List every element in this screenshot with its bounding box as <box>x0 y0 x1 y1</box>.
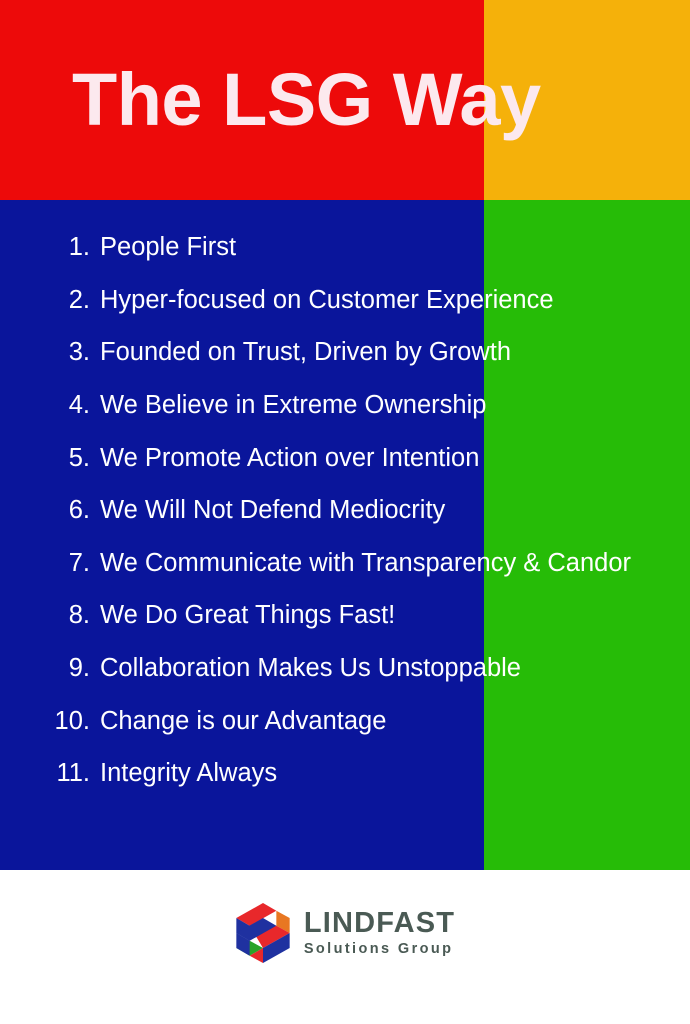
list-item-label: We Promote Action over Intention <box>100 442 503 475</box>
quadrant-top-right <box>484 0 690 200</box>
poster-canvas: The LSG Way 1. People First 2. Hyper-foc… <box>0 0 690 1024</box>
list-item-number: 8. <box>0 599 100 632</box>
lindfast-hexagon-logo-icon <box>235 903 291 963</box>
list-item-number: 7. <box>0 547 100 580</box>
list-item-number: 4. <box>0 389 100 422</box>
list-item: 4. We Believe in Extreme Ownership <box>0 389 690 422</box>
list-item: 8. We Do Great Things Fast! <box>0 599 690 632</box>
company-logo: LINDFAST Solutions Group <box>235 903 455 963</box>
list-item-number: 9. <box>0 652 100 685</box>
list-item-number: 10. <box>0 705 100 738</box>
list-item-number: 5. <box>0 442 100 475</box>
list-item-number: 1. <box>0 231 100 264</box>
list-item-label: Hyper-focused on Customer Experience <box>100 284 578 317</box>
list-item: 5. We Promote Action over Intention <box>0 442 690 475</box>
list-item-label: We Will Not Defend Mediocrity <box>100 494 469 527</box>
quadrant-top-left <box>0 0 484 200</box>
list-item: 7. We Communicate with Transparency & Ca… <box>0 547 690 580</box>
list-item-number: 3. <box>0 336 100 369</box>
list-item: 9. Collaboration Makes Us Unstoppable <box>0 652 690 685</box>
list-item-number: 11. <box>0 757 100 790</box>
logo-wordmark: LINDFAST Solutions Group <box>304 909 455 957</box>
list-item-label: We Believe in Extreme Ownership <box>100 389 510 422</box>
list-item-label: We Do Great Things Fast! <box>100 599 419 632</box>
company-name: LINDFAST <box>304 909 455 938</box>
list-item: 2. Hyper-focused on Customer Experience <box>0 284 690 317</box>
list-item-label: Integrity Always <box>100 757 301 790</box>
list-item-label: Founded on Trust, Driven by Growth <box>100 336 535 369</box>
list-item-number: 6. <box>0 494 100 527</box>
list-item-label: We Communicate with Transparency & Cando… <box>100 547 655 580</box>
list-item: 6. We Will Not Defend Mediocrity <box>0 494 690 527</box>
list-item: 11. Integrity Always <box>0 757 690 790</box>
list-item-label: Change is our Advantage <box>100 705 410 738</box>
list-item: 3. Founded on Trust, Driven by Growth <box>0 336 690 369</box>
list-item-label: Collaboration Makes Us Unstoppable <box>100 652 545 685</box>
list-item-number: 2. <box>0 284 100 317</box>
list-item-label: People First <box>100 231 260 264</box>
list-item: 10. Change is our Advantage <box>0 705 690 738</box>
company-tagline: Solutions Group <box>304 942 454 957</box>
values-list: 1. People First 2. Hyper-focused on Cust… <box>0 200 690 870</box>
list-item: 1. People First <box>0 231 690 264</box>
poster-footer: LINDFAST Solutions Group <box>0 870 690 1024</box>
